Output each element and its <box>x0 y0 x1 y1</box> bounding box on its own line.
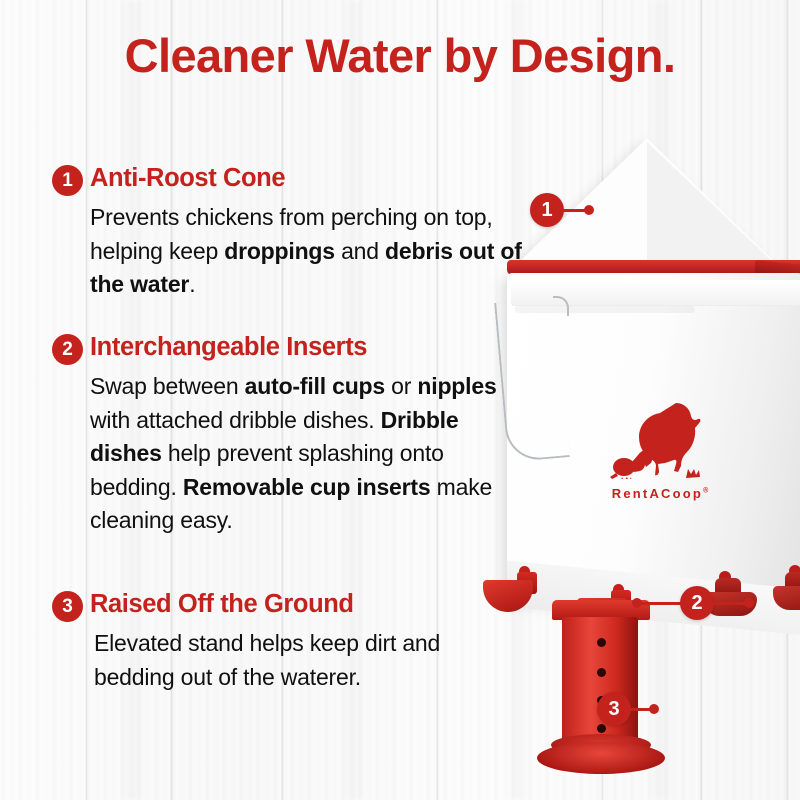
callout-leader-line <box>629 708 651 711</box>
brand-logo: RentACoop® <box>600 395 720 501</box>
feature-block-1: 1 Anti-Roost Cone Prevents chickens from… <box>52 164 522 302</box>
feature-block-2: 2 Interchangeable Inserts Swap between a… <box>52 333 522 538</box>
feature-number-badge: 3 <box>52 591 83 622</box>
cone-shading <box>647 142 775 264</box>
stand-hole <box>597 724 606 733</box>
feature-heading-row: 2 Interchangeable Inserts <box>52 333 522 367</box>
callout-leader-line <box>562 209 586 212</box>
feature-number-badge: 2 <box>52 334 83 365</box>
callout-leader-line <box>638 602 682 605</box>
feature-block-3: 3 Raised Off the Ground Elevated stand h… <box>52 590 522 694</box>
feature-body: Elevated stand helps keep dirt and beddi… <box>94 627 522 694</box>
callout-tip-dot <box>584 205 594 215</box>
stand-base <box>537 742 665 774</box>
callout-badge[interactable]: 3 <box>597 692 631 726</box>
feature-heading-row: 3 Raised Off the Ground <box>52 590 522 624</box>
page-title: Cleaner Water by Design. <box>0 28 800 83</box>
callout-tip-dot <box>649 704 659 714</box>
feature-heading-row: 1 Anti-Roost Cone <box>52 164 522 198</box>
brand-wordmark: RentACoop® <box>600 486 720 501</box>
chicken-logo-icon <box>602 395 718 479</box>
callout-badge[interactable]: 1 <box>530 193 564 227</box>
dribble-tray <box>773 586 800 610</box>
callout-tip-dot <box>632 598 642 608</box>
feature-title: Anti-Roost Cone <box>90 164 285 193</box>
feature-title: Raised Off the Ground <box>90 590 354 619</box>
callout-leader-line <box>712 602 746 605</box>
infographic-canvas: Cleaner Water by Design. <box>0 0 800 800</box>
feature-title: Interchangeable Inserts <box>90 333 367 362</box>
callout-badge[interactable]: 2 <box>680 586 714 620</box>
callout-tip-dot <box>744 598 754 608</box>
dribble-dish <box>773 572 800 612</box>
feature-number-badge: 1 <box>52 165 83 196</box>
feature-body: Prevents chickens from perching on top, … <box>90 201 522 302</box>
feature-body: Swap between auto-fill cups or nipples w… <box>90 370 522 538</box>
stand-hole <box>597 668 606 677</box>
stand-hole <box>597 638 606 647</box>
